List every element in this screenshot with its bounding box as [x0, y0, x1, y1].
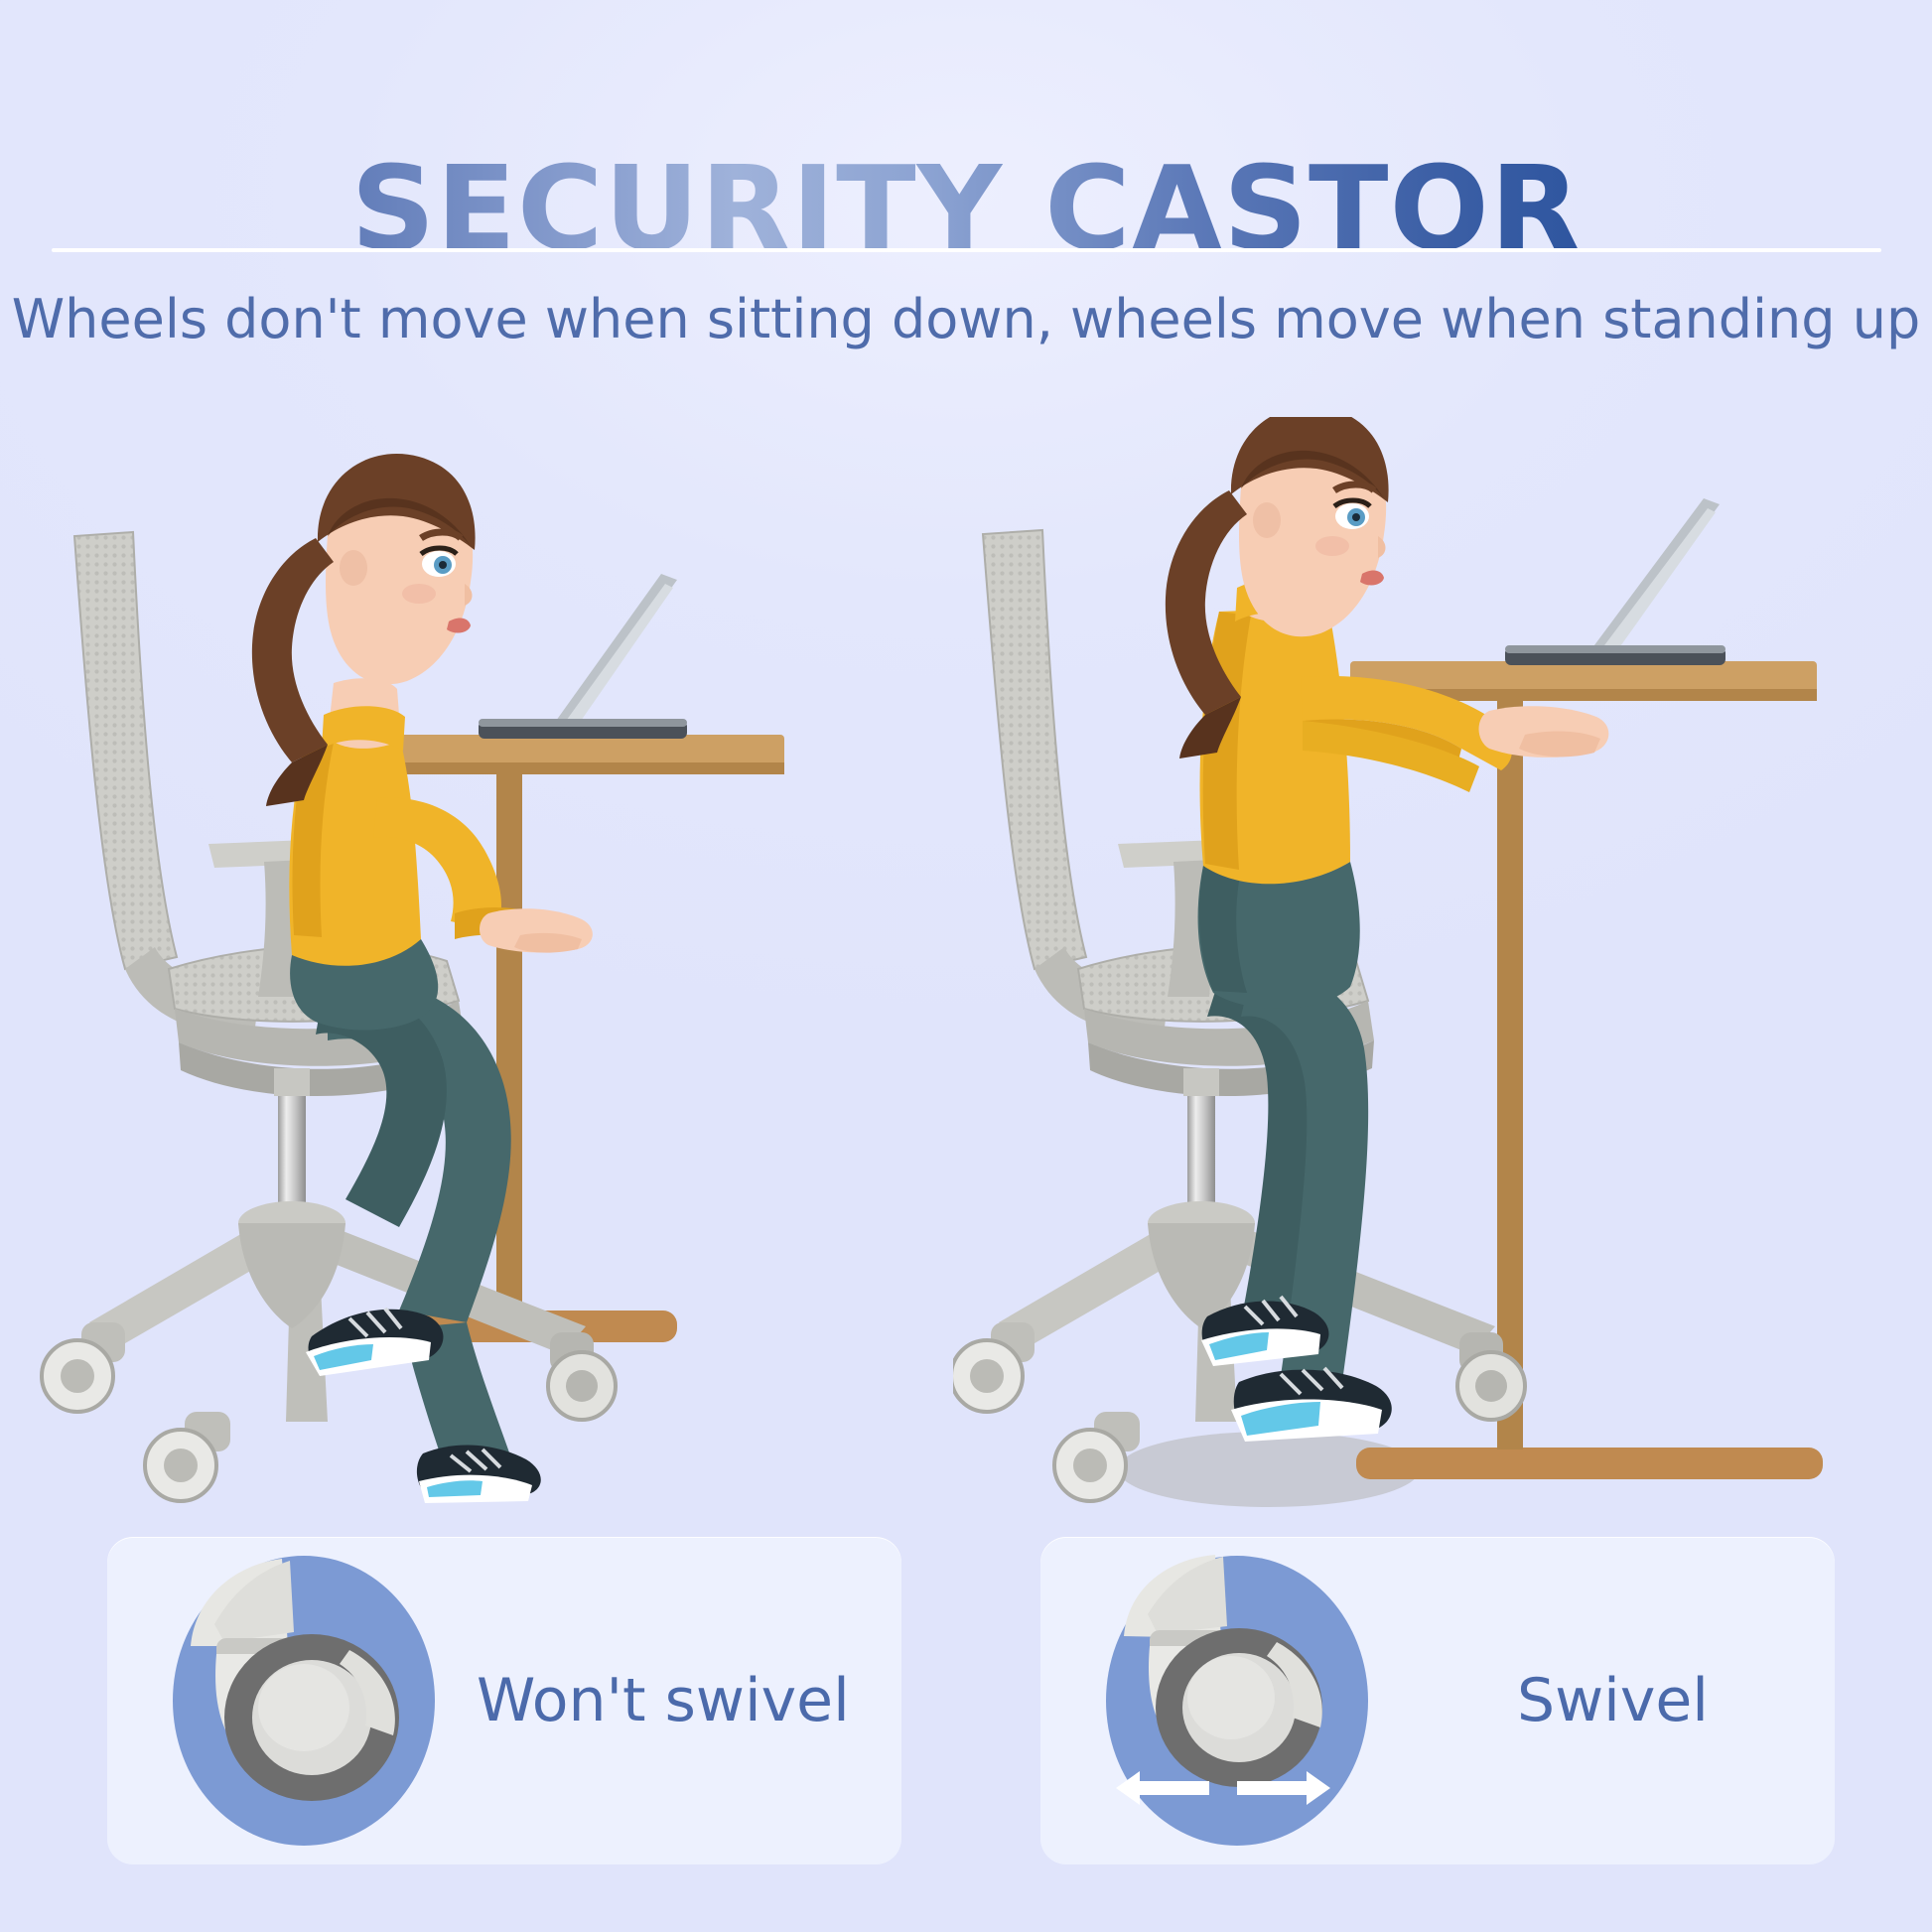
card-caption: Won't swivel	[477, 1537, 850, 1864]
shoe-front-standing	[1231, 1368, 1392, 1442]
caster-wheel-icon	[155, 1551, 453, 1851]
caster-wheel-icon	[1088, 1551, 1386, 1851]
card-swivel[interactable]: Swivel	[1040, 1537, 1835, 1864]
caster-rear	[42, 1322, 125, 1412]
shoe-front	[417, 1445, 541, 1503]
page-subtitle: Wheels don't move when sitting down, whe…	[0, 290, 1932, 349]
caster-right	[548, 1332, 616, 1420]
desk-standing	[1350, 661, 1823, 1479]
caster-rear	[953, 1322, 1035, 1412]
scene-standing-at-desk	[953, 417, 1847, 1519]
card-caption: Swivel	[1517, 1537, 1709, 1864]
laptop-standing	[1505, 498, 1725, 665]
title-divider	[52, 248, 1881, 252]
illustration-stage	[0, 417, 1932, 1519]
caster-front	[1054, 1412, 1140, 1501]
card-wont-swivel[interactable]: Won't swivel	[107, 1537, 901, 1864]
scene-sitting-at-desk	[30, 417, 923, 1519]
caster-front	[145, 1412, 230, 1501]
laptop-sitting	[479, 574, 687, 739]
infographic-page: SECURITY CASTOR Wheels don't move when s…	[0, 0, 1932, 1932]
